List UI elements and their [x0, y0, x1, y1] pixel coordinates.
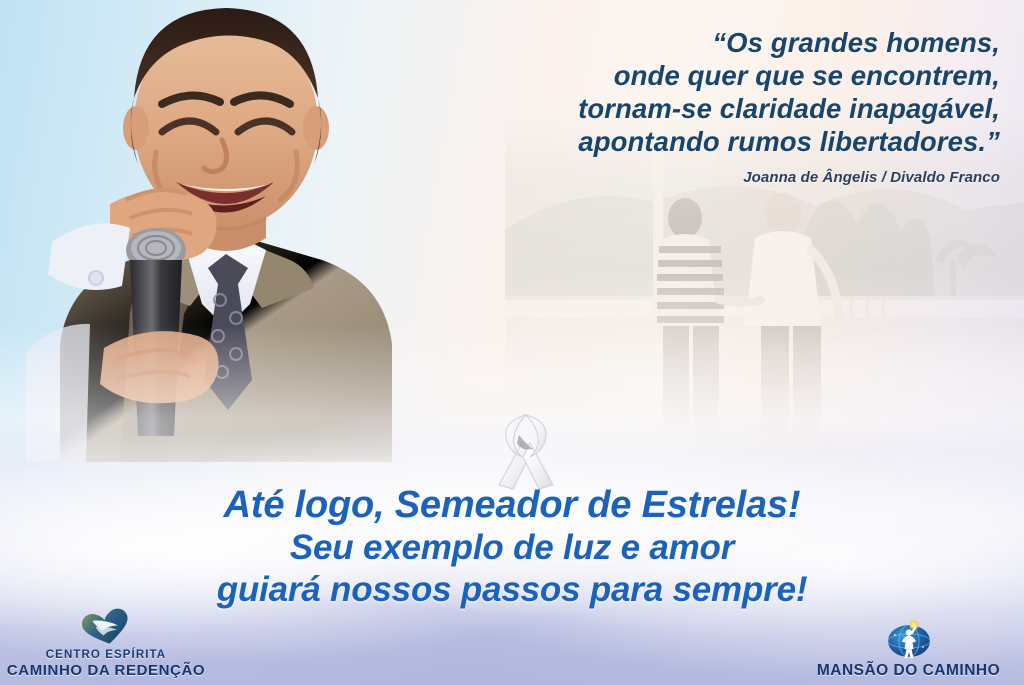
heart-hands-icon	[78, 608, 134, 646]
logo-left-line-1: CENTRO ESPÍRITA	[46, 649, 166, 662]
globe-figure-light-icon	[885, 619, 933, 659]
logo-left-line-2: CAMINHO DA REDENÇÃO	[7, 662, 205, 679]
quote-attribution: Joanna de Ângelis / Divaldo Franco	[340, 169, 1000, 186]
quote-line-4: apontando rumos libertadores.”	[340, 125, 1000, 158]
quote-line-3: tornam-se claridade inapagável,	[340, 92, 1000, 125]
quote-line-2: onde quer que se encontrem,	[340, 59, 1000, 92]
quote-line-1: “Os grandes homens,	[340, 26, 1000, 59]
logo-right-line-1: MANSÃO DO CAMINHO	[817, 662, 1000, 679]
white-awareness-ribbon-icon	[489, 409, 563, 491]
headline-line-2: Seu exemplo de luz e amor	[0, 527, 1024, 569]
quote-block: “Os grandes homens, onde quer que se enc…	[340, 26, 1000, 186]
logo-centro-espirita-caminho-da-redencao: CENTRO ESPÍRITA CAMINHO DA REDENÇÃO	[6, 608, 206, 679]
memorial-headline: Até logo, Semeador de Estrelas! Seu exem…	[0, 484, 1024, 611]
memorial-poster: “Os grandes homens, onde quer que se enc…	[0, 0, 1024, 685]
headline-line-3: guiará nossos passos para sempre!	[0, 569, 1024, 611]
headline-line-1: Até logo, Semeador de Estrelas!	[0, 484, 1024, 527]
logo-mansao-do-caminho: MANSÃO DO CAMINHO	[801, 619, 1016, 679]
